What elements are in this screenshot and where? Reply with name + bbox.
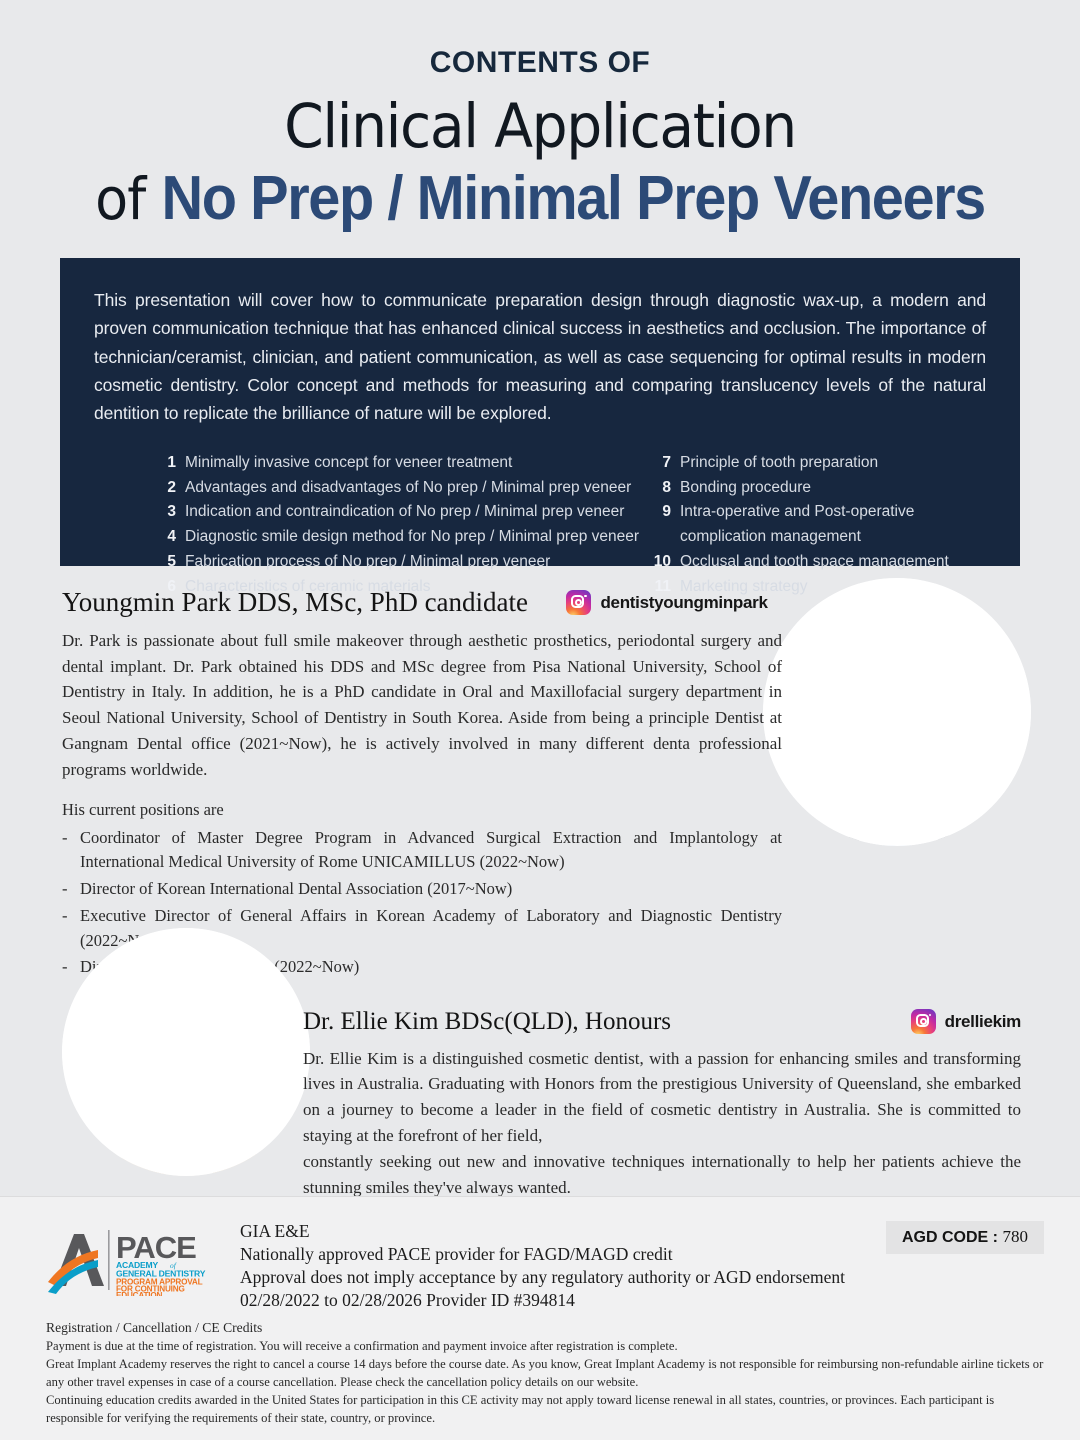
speaker1-bio: Dr. Park is passionate about full smile … [62, 628, 782, 783]
list-item: -Coordinator of Master Degree Program in… [62, 826, 782, 876]
dash-bullet: - [62, 826, 80, 876]
topic-item: 10Occlusal and tooth space management [647, 551, 1017, 572]
topic-number: 2 [152, 477, 176, 498]
pace-logo-graphic: PACE ACADEMY of GENERAL DENTISTRY PROGRA… [48, 1224, 216, 1296]
title-accent: No Prep / Minimal Prep Veneers [161, 164, 984, 233]
topic-number: 9 [647, 501, 671, 522]
speaker1-positions-heading: His current positions are [62, 800, 782, 820]
topic-label: Bonding procedure [680, 477, 1017, 498]
topic-number: 1 [152, 452, 176, 473]
topic-number: 4 [152, 526, 176, 547]
poster-header: CONTENTS OF Clinical Application of No P… [0, 0, 1080, 231]
topic-label: Advantages and disadvantages of No prep … [185, 477, 647, 498]
topic-item: 3Indication and contraindication of No p… [152, 501, 647, 522]
agd-code-value: 780 [1002, 1227, 1028, 1246]
topic-item: 4Diagnostic smile design method for No p… [152, 526, 647, 547]
speaker2-instagram-handle: drelliekim [945, 1012, 1021, 1032]
fineprint-paragraph: Continuing education credits awarded in … [46, 1392, 1046, 1428]
topic-item: 5Fabrication process of No prep / Minima… [152, 551, 647, 572]
speaker1-name: Youngmin Park DDS, MSc, PhD candidate [62, 588, 528, 618]
instagram-icon [566, 590, 591, 615]
fineprint-block: Registration / Cancellation / CE Credits… [46, 1318, 1046, 1428]
poster-page: CONTENTS OF Clinical Application of No P… [0, 0, 1080, 1440]
speaker1-block: Youngmin Park DDS, MSc, PhD candidate de… [62, 588, 782, 982]
header-kicker: CONTENTS OF [0, 48, 1080, 78]
agd-code-label: AGD CODE : [902, 1229, 998, 1246]
topic-item: 2Advantages and disadvantages of No prep… [152, 477, 647, 498]
topic-item: 7Principle of tooth preparation [647, 452, 1017, 473]
speaker2-avatar [62, 928, 310, 1176]
description-panel: This presentation will cover how to comm… [60, 258, 1020, 566]
topic-number: 10 [647, 551, 671, 572]
topic-label: Occlusal and tooth space management [680, 551, 1017, 572]
page-subtitle-row: of No Prep / Minimal Prep Veneers [38, 166, 1042, 231]
topic-label: Minimally invasive concept for veneer tr… [185, 452, 647, 473]
topic-label: Fabrication process of No prep / Minimal… [185, 551, 647, 572]
pace-logo: PACE ACADEMY of GENERAL DENTISTRY PROGRA… [48, 1224, 216, 1296]
fineprint-paragraph: Payment is due at the time of registrati… [46, 1338, 1046, 1356]
dash-bullet: - [62, 877, 80, 902]
speaker1-avatar [763, 578, 1031, 846]
speaker1-instagram[interactable]: dentistyoungminpark [566, 590, 767, 615]
speaker2-bio-part1: Dr. Ellie Kim is a distinguished cosmeti… [303, 1046, 1021, 1149]
topic-label: Diagnostic smile design method for No pr… [185, 526, 647, 547]
title-of-word: of [95, 165, 161, 233]
agd-code-badge: AGD CODE : 780 [886, 1221, 1044, 1254]
topic-label: complication management [680, 526, 1017, 547]
topic-item: 8Bonding procedure [647, 477, 1017, 498]
accreditation-line: 02/28/2022 to 02/28/2026 Provider ID #39… [240, 1289, 845, 1312]
speaker2-name: Dr. Ellie Kim BDSc(QLD), Honours [303, 1008, 671, 1036]
fineprint-title: Registration / Cancellation / CE Credits [46, 1318, 1046, 1337]
topic-number: 3 [152, 501, 176, 522]
position-label: Director of Korean International Dental … [80, 877, 782, 902]
page-title: Clinical Application [38, 94, 1042, 160]
topic-label: Indication and contraindication of No pr… [185, 501, 647, 522]
topics-column-left: 1Minimally invasive concept for veneer t… [152, 452, 647, 601]
speaker2-instagram[interactable]: drelliekim [911, 1009, 1021, 1034]
svg-text:EDUCATION: EDUCATION [116, 1291, 163, 1296]
instagram-icon [911, 1009, 936, 1034]
speaker2-bio-part2: constantly seeking out new and innovativ… [303, 1149, 1021, 1201]
topic-label: Intra-operative and Post-operative [680, 501, 1017, 522]
speaker1-instagram-handle: dentistyoungminpark [600, 593, 767, 613]
topic-item: 9Intra-operative and Post-operative [647, 501, 1017, 522]
accreditation-text: GIA E&E Nationally approved PACE provide… [240, 1220, 845, 1312]
position-label: Coordinator of Master Degree Program in … [80, 826, 782, 876]
speaker2-header: Dr. Ellie Kim BDSc(QLD), Honours drellie… [303, 1008, 1021, 1036]
topic-number: 7 [647, 452, 671, 473]
topic-item: 1Minimally invasive concept for veneer t… [152, 452, 647, 473]
list-item: -Director of Korean International Dental… [62, 877, 782, 902]
speaker2-block: Dr. Ellie Kim BDSc(QLD), Honours drellie… [303, 1008, 1021, 1200]
topic-label: Principle of tooth preparation [680, 452, 1017, 473]
topic-number: 5 [152, 551, 176, 572]
accreditation-line: Approval does not imply acceptance by an… [240, 1266, 845, 1289]
accreditation-line: Nationally approved PACE provider for FA… [240, 1243, 845, 1266]
topic-item-continuation: complication management [647, 526, 1017, 547]
panel-description: This presentation will cover how to comm… [94, 286, 986, 428]
speaker1-header: Youngmin Park DDS, MSc, PhD candidate de… [62, 588, 782, 618]
fineprint-paragraph: Great Implant Academy reserves the right… [46, 1356, 1046, 1392]
topic-number: 8 [647, 477, 671, 498]
accreditation-line: GIA E&E [240, 1220, 845, 1243]
